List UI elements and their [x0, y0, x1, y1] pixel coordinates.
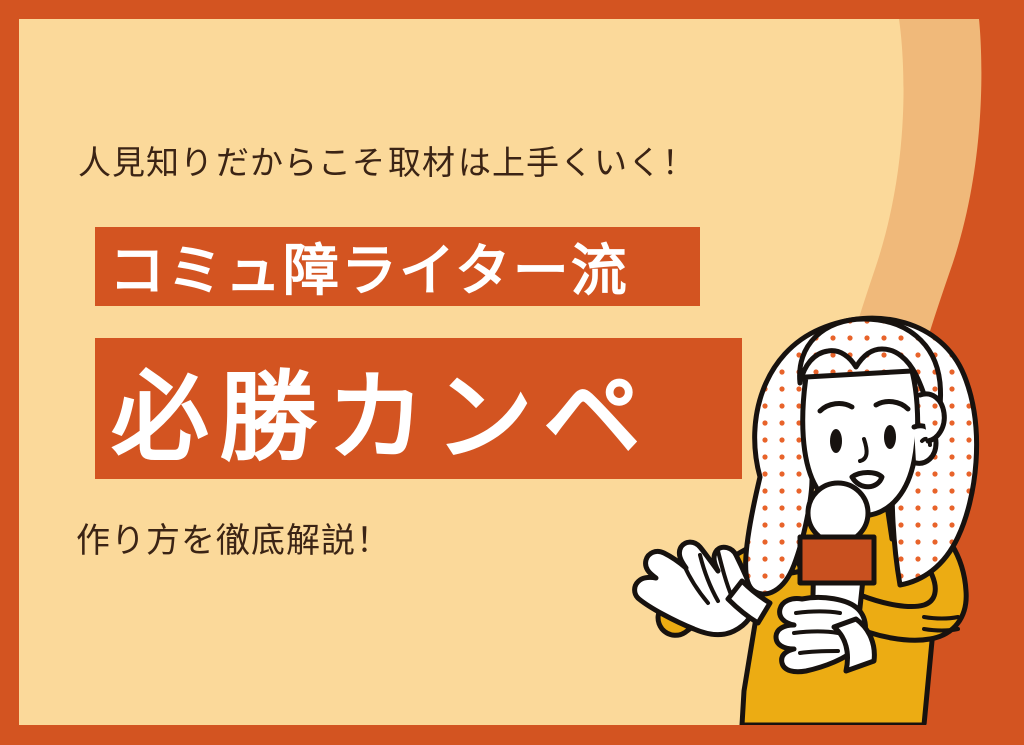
headline-band-primary: コミュ障ライター流 — [95, 227, 700, 306]
headline-band-secondary-text: 必勝カンペ — [111, 338, 651, 480]
microphone-head — [808, 483, 868, 543]
poster-stage: 人見知りだからこそ取材は上手くいく！ コミュ障ライター流 必勝カンペ 作り方を徹… — [19, 19, 1005, 725]
headline-band-primary-text: コミュ障ライター流 — [109, 226, 629, 307]
kicker-plain-1: だからこそ — [216, 144, 386, 181]
kicker-line: 人見知りだからこそ取材は上手くいく！ — [76, 136, 696, 184]
kicker-highlight-1: 人見知り — [76, 136, 216, 184]
poster-canvas: 人見知りだからこそ取材は上手くいく！ コミュ障ライター流 必勝カンペ 作り方を徹… — [0, 0, 1024, 745]
eye-right — [884, 425, 896, 449]
microphone-flag — [800, 537, 874, 583]
kicker-highlight-2: 取材 — [386, 136, 458, 184]
mouth — [852, 473, 882, 487]
eye-left — [830, 429, 842, 453]
tagline-text: 作り方を徹底解説！ — [76, 513, 391, 562]
kicker-plain-2: は上手くいく！ — [458, 144, 696, 181]
reporter-illustration — [624, 299, 1005, 725]
